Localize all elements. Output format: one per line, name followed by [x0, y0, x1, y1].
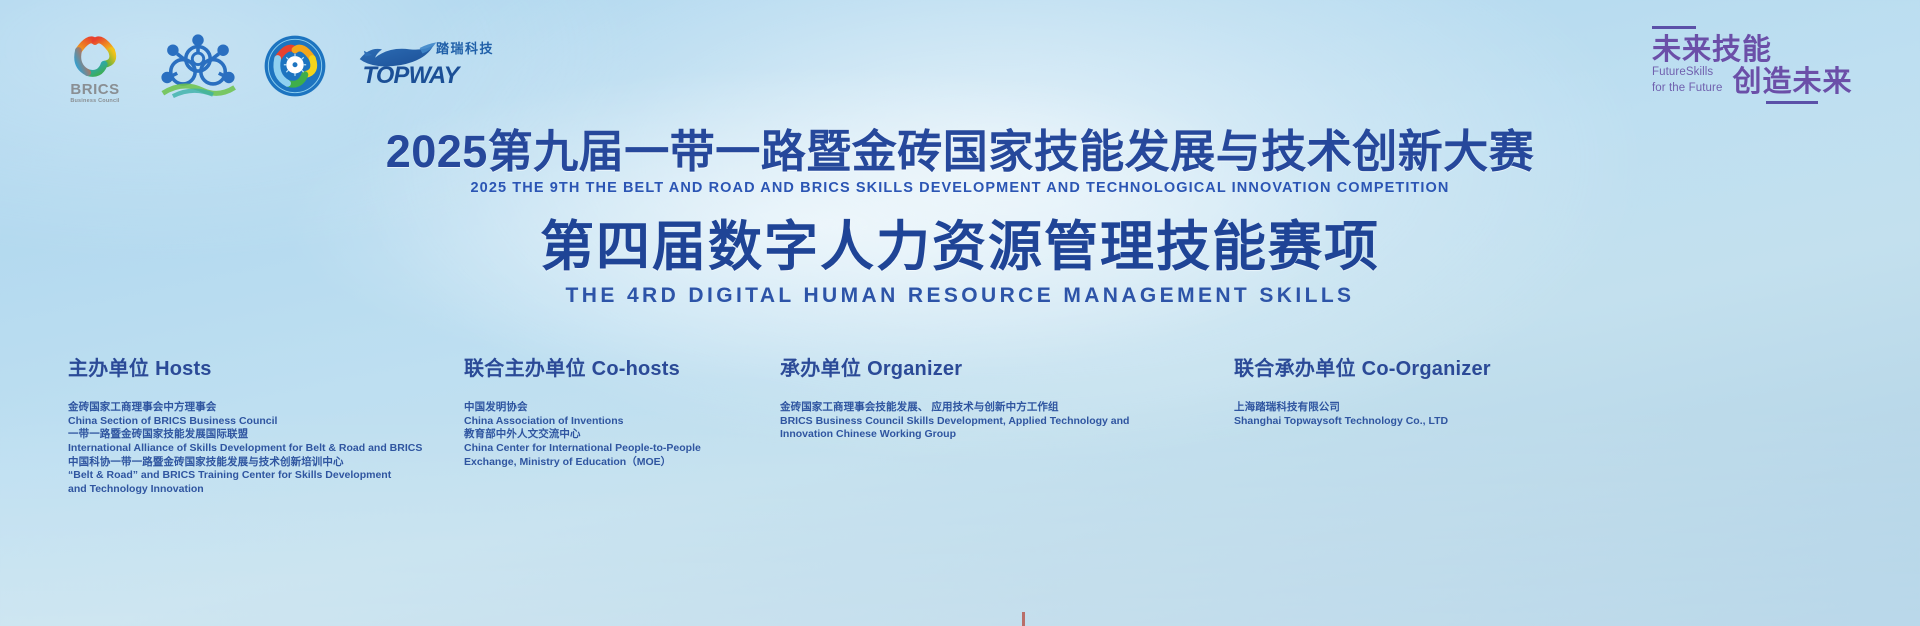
future-skills-block: 未来技能 FutureSkills for the Future 创造未来 — [1616, 26, 1868, 104]
organizer-heading-cn: 主办单位 — [68, 358, 149, 380]
organizer-line: Innovation Chinese Working Group — [780, 428, 1230, 442]
bottom-alignment-mark — [1022, 612, 1025, 626]
brics-logo-title: BRICS — [58, 82, 132, 97]
logo-strip: BRICS Business Council — [58, 33, 498, 104]
organizer-line: “Belt & Road” and BRICS Training Center … — [68, 469, 468, 483]
future-skills-en-line1: FutureSkills — [1652, 65, 1722, 79]
organizer-line: China Association of Inventions — [464, 415, 774, 429]
organizer-line: BRICS Business Council Skills Developmen… — [780, 415, 1230, 429]
organizer-line: 中国发明协会 — [464, 401, 774, 415]
sub-title-en: THE 4RD DIGITAL HUMAN RESOURCE MANAGEMEN… — [0, 284, 1920, 308]
topway-logo-subtitle: 踏瑞科技 — [436, 38, 494, 57]
organizer-line: 金砖国家工商理事会技能发展、 应用技术与创新中方工作组 — [780, 401, 1230, 415]
organizer-line: 教育部中外人文交流中心 — [464, 428, 774, 442]
banner-stage: BRICS Business Council — [0, 0, 1920, 626]
molecule-icon — [158, 33, 238, 99]
organizer-list: 中国发明协会 China Association of Inventions 教… — [464, 401, 774, 469]
organizer-line: China Section of BRICS Business Council — [68, 415, 468, 429]
organizer-heading-cn: 承办单位 — [780, 358, 861, 380]
organizer-heading: 联合承办单位 Co-Organizer — [1234, 352, 1654, 381]
future-skills-line1: 未来技能 — [1652, 35, 1868, 65]
sub-title-cn: 第四届数字人力资源管理技能赛项 — [0, 218, 1920, 277]
brics-star-icon — [58, 33, 132, 81]
organizer-line: and Technology Innovation — [68, 483, 468, 497]
organizer-line: 一带一路暨金砖国家技能发展国际联盟 — [68, 428, 468, 442]
future-skills-line2: 创造未来 — [1732, 67, 1852, 97]
organizer-heading-en: Hosts — [155, 358, 212, 380]
svg-text:TOPWAY: TOPWAY — [362, 63, 461, 87]
organizer-line: International Alliance of Skills Develop… — [68, 442, 468, 456]
organizer-heading-en: Co-hosts — [592, 358, 680, 380]
organizer-line: 金砖国家工商理事会中方理事会 — [68, 401, 468, 415]
organizer-heading: 主办单位 Hosts — [68, 352, 468, 381]
future-skills-en-line2: for the Future — [1652, 81, 1722, 95]
organizer-heading: 联合主办单位 Co-hosts — [464, 352, 774, 381]
organizer-line: Exchange, Ministry of Education（MOE） — [464, 456, 774, 470]
future-skills-rule-top — [1652, 26, 1696, 29]
organizer-columns: 主办单位 Hosts 金砖国家工商理事会中方理事会 China Section … — [0, 352, 1920, 542]
main-title-cn: 2025第九届一带一路暨金砖国家技能发展与技术创新大赛 — [0, 128, 1920, 176]
topway-logo: TOPWAY 踏瑞科技 — [358, 41, 498, 87]
brics-business-council-logo: BRICS Business Council — [58, 33, 132, 104]
brics-skills-circular-emblem — [264, 33, 326, 102]
organizer-line: 上海踏瑞科技有限公司 — [1234, 401, 1654, 415]
organizer-column-coorganizer: 联合承办单位 Co-Organizer 上海踏瑞科技有限公司 Shanghai … — [1234, 352, 1654, 428]
skills-alliance-emblem — [158, 33, 238, 104]
organizer-list: 金砖国家工商理事会技能发展、 应用技术与创新中方工作组 BRICS Busine… — [780, 401, 1230, 442]
organizer-line: China Center for International People-to… — [464, 442, 774, 456]
organizer-heading-en: Organizer — [867, 358, 962, 380]
brics-logo-subtitle: Business Council — [58, 98, 132, 104]
organizer-list: 上海踏瑞科技有限公司 Shanghai Topwaysoft Technolog… — [1234, 401, 1654, 428]
organizer-heading-cn: 联合主办单位 — [464, 358, 586, 380]
organizer-list: 金砖国家工商理事会中方理事会 China Section of BRICS Bu… — [68, 401, 468, 496]
main-title-en: 2025 THE 9TH THE BELT AND ROAD AND BRICS… — [0, 180, 1920, 196]
organizer-line: Shanghai Topwaysoft Technology Co., LTD — [1234, 415, 1654, 429]
organizer-heading-en: Co-Organizer — [1362, 358, 1491, 380]
organizer-column-cohosts: 联合主办单位 Co-hosts 中国发明协会 China Association… — [464, 352, 774, 469]
organizer-line: 中国科协一带一路暨金砖国家技能发展与技术创新培训中心 — [68, 456, 468, 470]
future-skills-rule-bottom — [1766, 101, 1818, 104]
title-group: 2025第九届一带一路暨金砖国家技能发展与技术创新大赛 2025 THE 9TH… — [0, 128, 1920, 308]
organizer-heading: 承办单位 Organizer — [780, 352, 1230, 381]
organizer-heading-cn: 联合承办单位 — [1234, 358, 1356, 380]
organizer-column-organizer: 承办单位 Organizer 金砖国家工商理事会技能发展、 应用技术与创新中方工… — [780, 352, 1230, 442]
circular-star-gear-icon — [264, 35, 326, 97]
organizer-column-hosts: 主办单位 Hosts 金砖国家工商理事会中方理事会 China Section … — [68, 352, 468, 496]
